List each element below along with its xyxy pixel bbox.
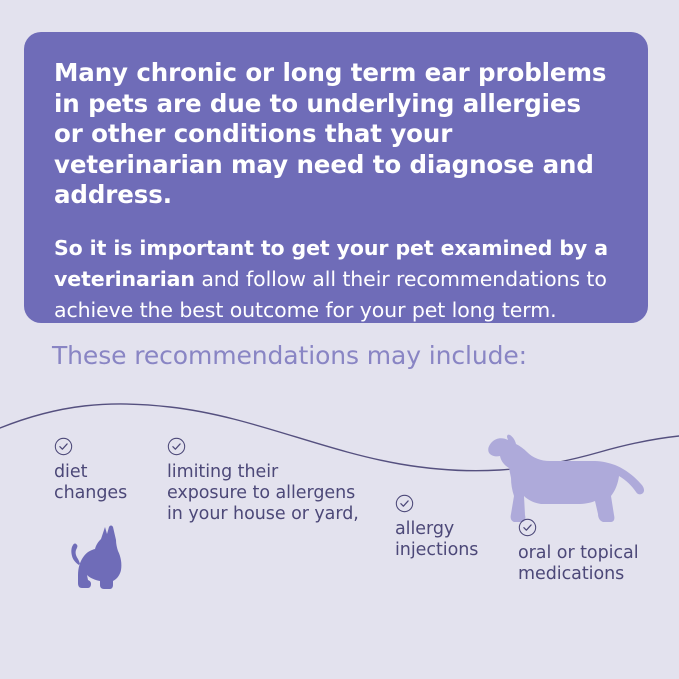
recommendation-item: allergy injections: [395, 494, 478, 561]
recommendation-item: limiting their exposure to allergens in …: [167, 437, 359, 525]
recommendation-label: allergy injections: [395, 519, 478, 561]
check-circle-icon: [54, 437, 73, 456]
recommendations-title: These recommendations may include:: [52, 341, 527, 371]
callout-card: Many chronic or long term ear problems i…: [24, 32, 648, 323]
recommendation-item: diet changes: [54, 437, 127, 504]
recommendation-item: oral or topical medications: [518, 518, 639, 585]
recommendation-label: oral or topical medications: [518, 543, 639, 585]
recommendation-label: diet changes: [54, 462, 127, 504]
infographic-canvas: Many chronic or long term ear problems i…: [0, 0, 679, 679]
dog-silhouette: [478, 418, 650, 528]
callout-body: So it is important to get your pet exami…: [54, 233, 618, 326]
cat-silhouette: [58, 519, 138, 597]
check-circle-icon: [395, 494, 414, 513]
check-circle-icon: [167, 437, 186, 456]
recommendation-label: limiting their exposure to allergens in …: [167, 462, 359, 525]
check-circle-icon: [518, 518, 537, 537]
callout-heading: Many chronic or long term ear problems i…: [54, 58, 614, 211]
